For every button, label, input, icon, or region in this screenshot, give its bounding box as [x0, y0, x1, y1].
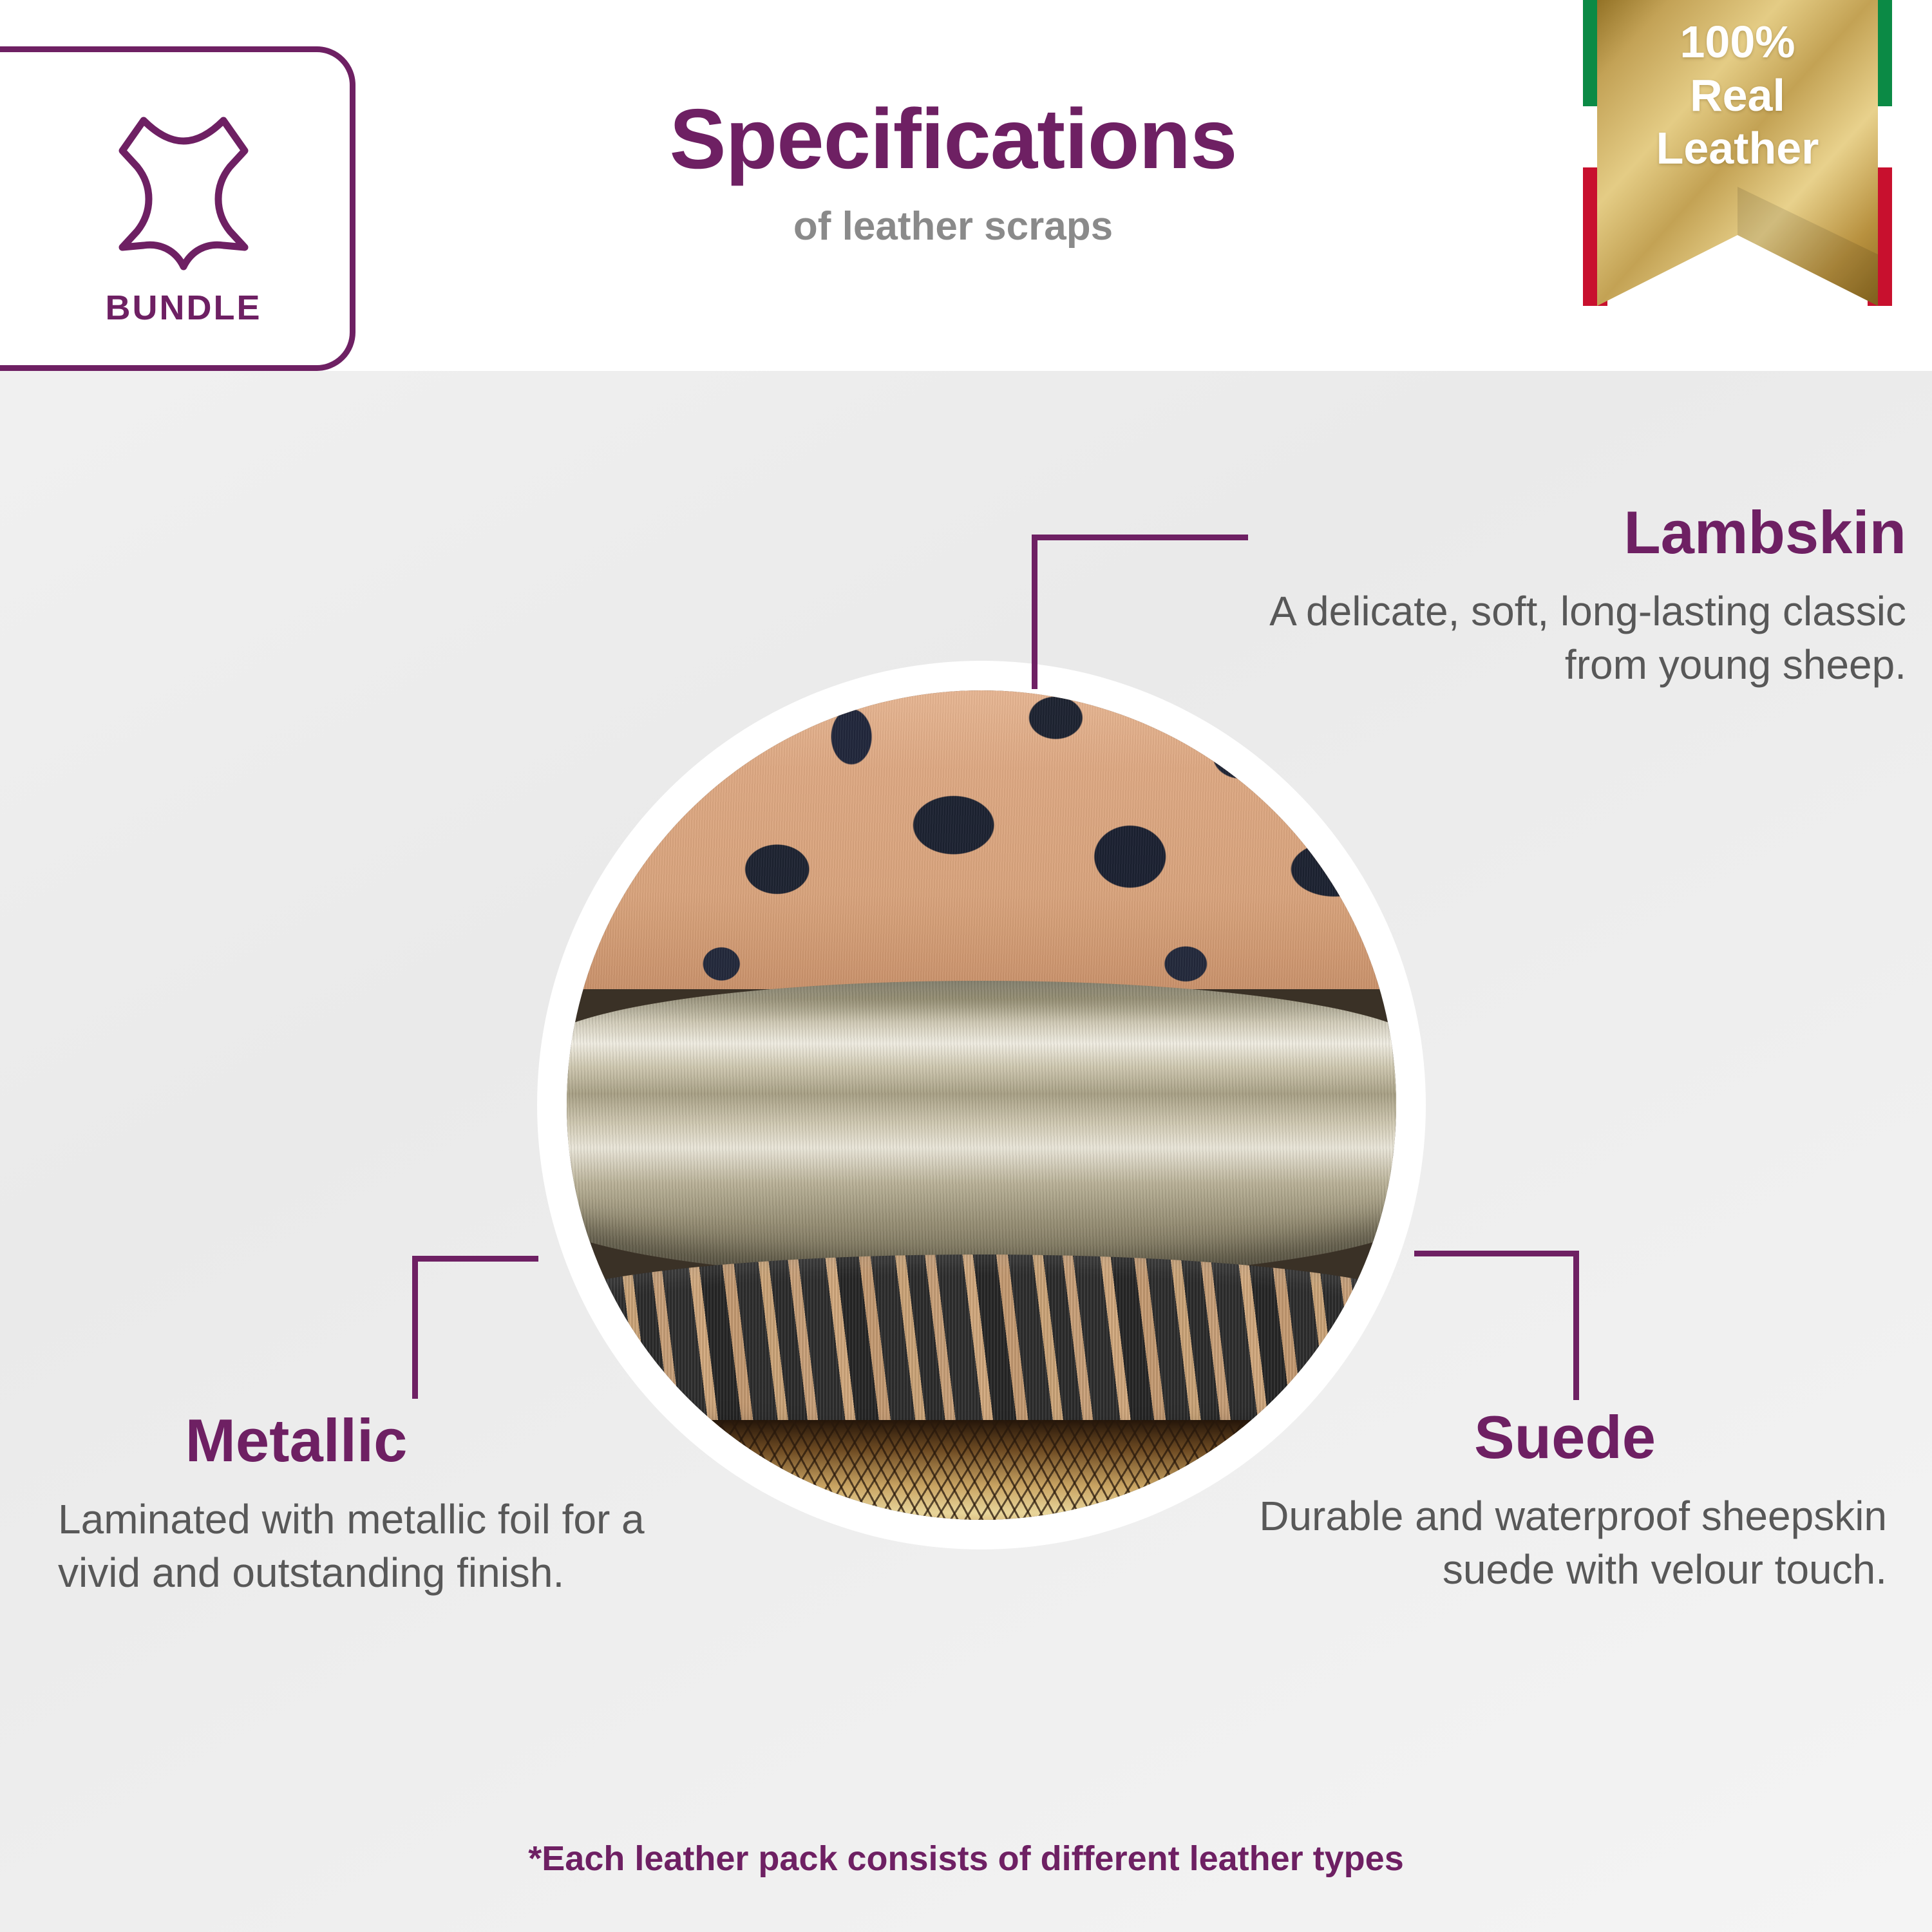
bundle-label: BUNDLE — [106, 288, 262, 328]
callout-lambskin-body: A delicate, soft, long-lasting classic f… — [1249, 585, 1906, 692]
ribbon-line-1: 100% — [1583, 15, 1892, 69]
page-title: Specifications — [399, 97, 1507, 182]
page-subtitle: of leather scraps — [399, 204, 1507, 249]
callout-suede-body: Durable and waterproof sheepskin suede w… — [1243, 1490, 1887, 1596]
photo-layer-champagne-metallic — [567, 981, 1396, 1280]
real-leather-ribbon-badge: 100% Real Leather — [1583, 0, 1892, 307]
callout-suede-title: Suede — [1243, 1407, 1887, 1468]
leader-line-suede-vertical — [1573, 1251, 1579, 1400]
bundle-badge: BUNDLE — [0, 46, 355, 371]
page-title-block: Specifications of leather scraps — [399, 97, 1507, 249]
callout-suede: Suede Durable and waterproof sheepskin s… — [1243, 1407, 1887, 1596]
callout-metallic: Metallic Laminated with metallic foil fo… — [58, 1410, 702, 1600]
leather-hide-icon — [87, 90, 280, 276]
ribbon-line-3: Leather — [1583, 122, 1892, 175]
callout-metallic-body: Laminated with metallic foil for a vivid… — [58, 1493, 702, 1600]
callout-metallic-title: Metallic — [58, 1410, 535, 1471]
ribbon-line-2: Real — [1583, 69, 1892, 122]
leader-line-metallic-horizontal — [412, 1256, 538, 1262]
leader-line-suede-horizontal — [1414, 1251, 1579, 1256]
leader-line-lambskin-vertical — [1032, 535, 1037, 689]
leader-line-lambskin-horizontal — [1032, 535, 1248, 540]
leader-line-metallic-vertical — [412, 1256, 418, 1399]
photo-layer-leopard-lambskin — [567, 690, 1396, 989]
bundle-badge-content: BUNDLE — [6, 52, 361, 365]
leather-stack-photo — [567, 690, 1396, 1520]
infographic-page: BUNDLE Specifications of leather scraps — [0, 0, 1932, 1932]
ribbon-text: 100% Real Leather — [1583, 15, 1892, 175]
callout-lambskin: Lambskin A delicate, soft, long-lasting … — [1249, 502, 1906, 692]
footnote: *Each leather pack consists of different… — [0, 1839, 1932, 1879]
callout-lambskin-title: Lambskin — [1249, 502, 1906, 563]
